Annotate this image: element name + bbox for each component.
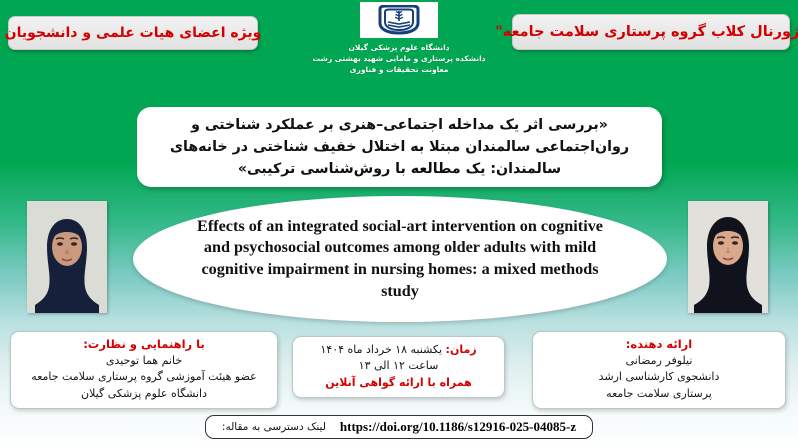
supervisor-line-1: خانم هما توحیدی (19, 353, 269, 369)
time-date-row: زمان: یکشنبه ۱۸ خرداد ماه ۱۴۰۴ (301, 342, 496, 358)
english-title-text: Effects of an integrated social-art inte… (192, 216, 609, 303)
university-line-2: دانشکده پرستاری و مامایی شهید بهشتی رشت (313, 54, 486, 65)
university-header: دانشگاه علوم پزشکی گیلان دانشکده پرستاری… (0, 2, 798, 76)
university-text-block: دانشگاه علوم پزشکی گیلان دانشکده پرستاری… (313, 43, 486, 76)
university-line-3: معاونت تحقیقات و فناوری (313, 65, 486, 76)
doi-row: https://doi.org/10.1186/s12916-025-04085… (0, 415, 798, 439)
presenter-line-1: نیلوفر رمضانی (541, 353, 777, 369)
presenter-line-3: پرستاری سلامت جامعه (541, 386, 777, 402)
time-panel: زمان: یکشنبه ۱۸ خرداد ماه ۱۴۰۴ ساعت ۱۲ ا… (292, 336, 505, 398)
persian-title-text: «بررسی اثر یک مداخله اجتماعی–هنری بر عمل… (151, 114, 648, 180)
time-hours: ساعت ۱۲ الی ۱۳ (301, 358, 496, 374)
supervisor-heading: با راهنمایی و نظارت: (19, 337, 269, 351)
doi-link[interactable]: https://doi.org/10.1186/s12916-025-04085… (340, 419, 576, 435)
university-line-1: دانشگاه علوم پزشکی گیلان (313, 43, 486, 54)
presenter-line-2: دانشجوی کارشناسی ارشد (541, 369, 777, 385)
supervisor-line-2: عضو هیئت آموزشی گروه پرستاری سلامت جامعه (19, 369, 269, 385)
portrait-photo-right (688, 201, 768, 313)
portrait-photo-left (27, 201, 107, 313)
presenter-heading: ارائه دهنده: (541, 337, 777, 351)
persian-title-box: «بررسی اثر یک مداخله اجتماعی–هنری بر عمل… (137, 107, 662, 187)
doi-box[interactable]: https://doi.org/10.1186/s12916-025-04085… (205, 415, 593, 439)
doi-label: لینک دسترسی به مقاله: (222, 421, 326, 433)
university-emblem-icon (360, 2, 438, 38)
supervisor-panel: با راهنمایی و نظارت: خانم هما توحیدی عضو… (10, 331, 278, 409)
presenter-panel: ارائه دهنده: نیلوفر رمضانی دانشجوی کارشن… (532, 331, 786, 409)
time-date: یکشنبه ۱۸ خرداد ماه ۱۴۰۴ (320, 343, 442, 356)
english-title-ellipse: Effects of an integrated social-art inte… (133, 196, 667, 322)
poster-canvas: ویژه اعضای هیات علمی و دانشجویان "ژورنال… (0, 0, 798, 447)
supervisor-line-3: دانشگاه علوم پزشکی گیلان (19, 386, 269, 402)
time-label: زمان: (446, 343, 477, 356)
time-certificate-note: همراه با ارائه گواهی آنلاین (301, 375, 496, 391)
